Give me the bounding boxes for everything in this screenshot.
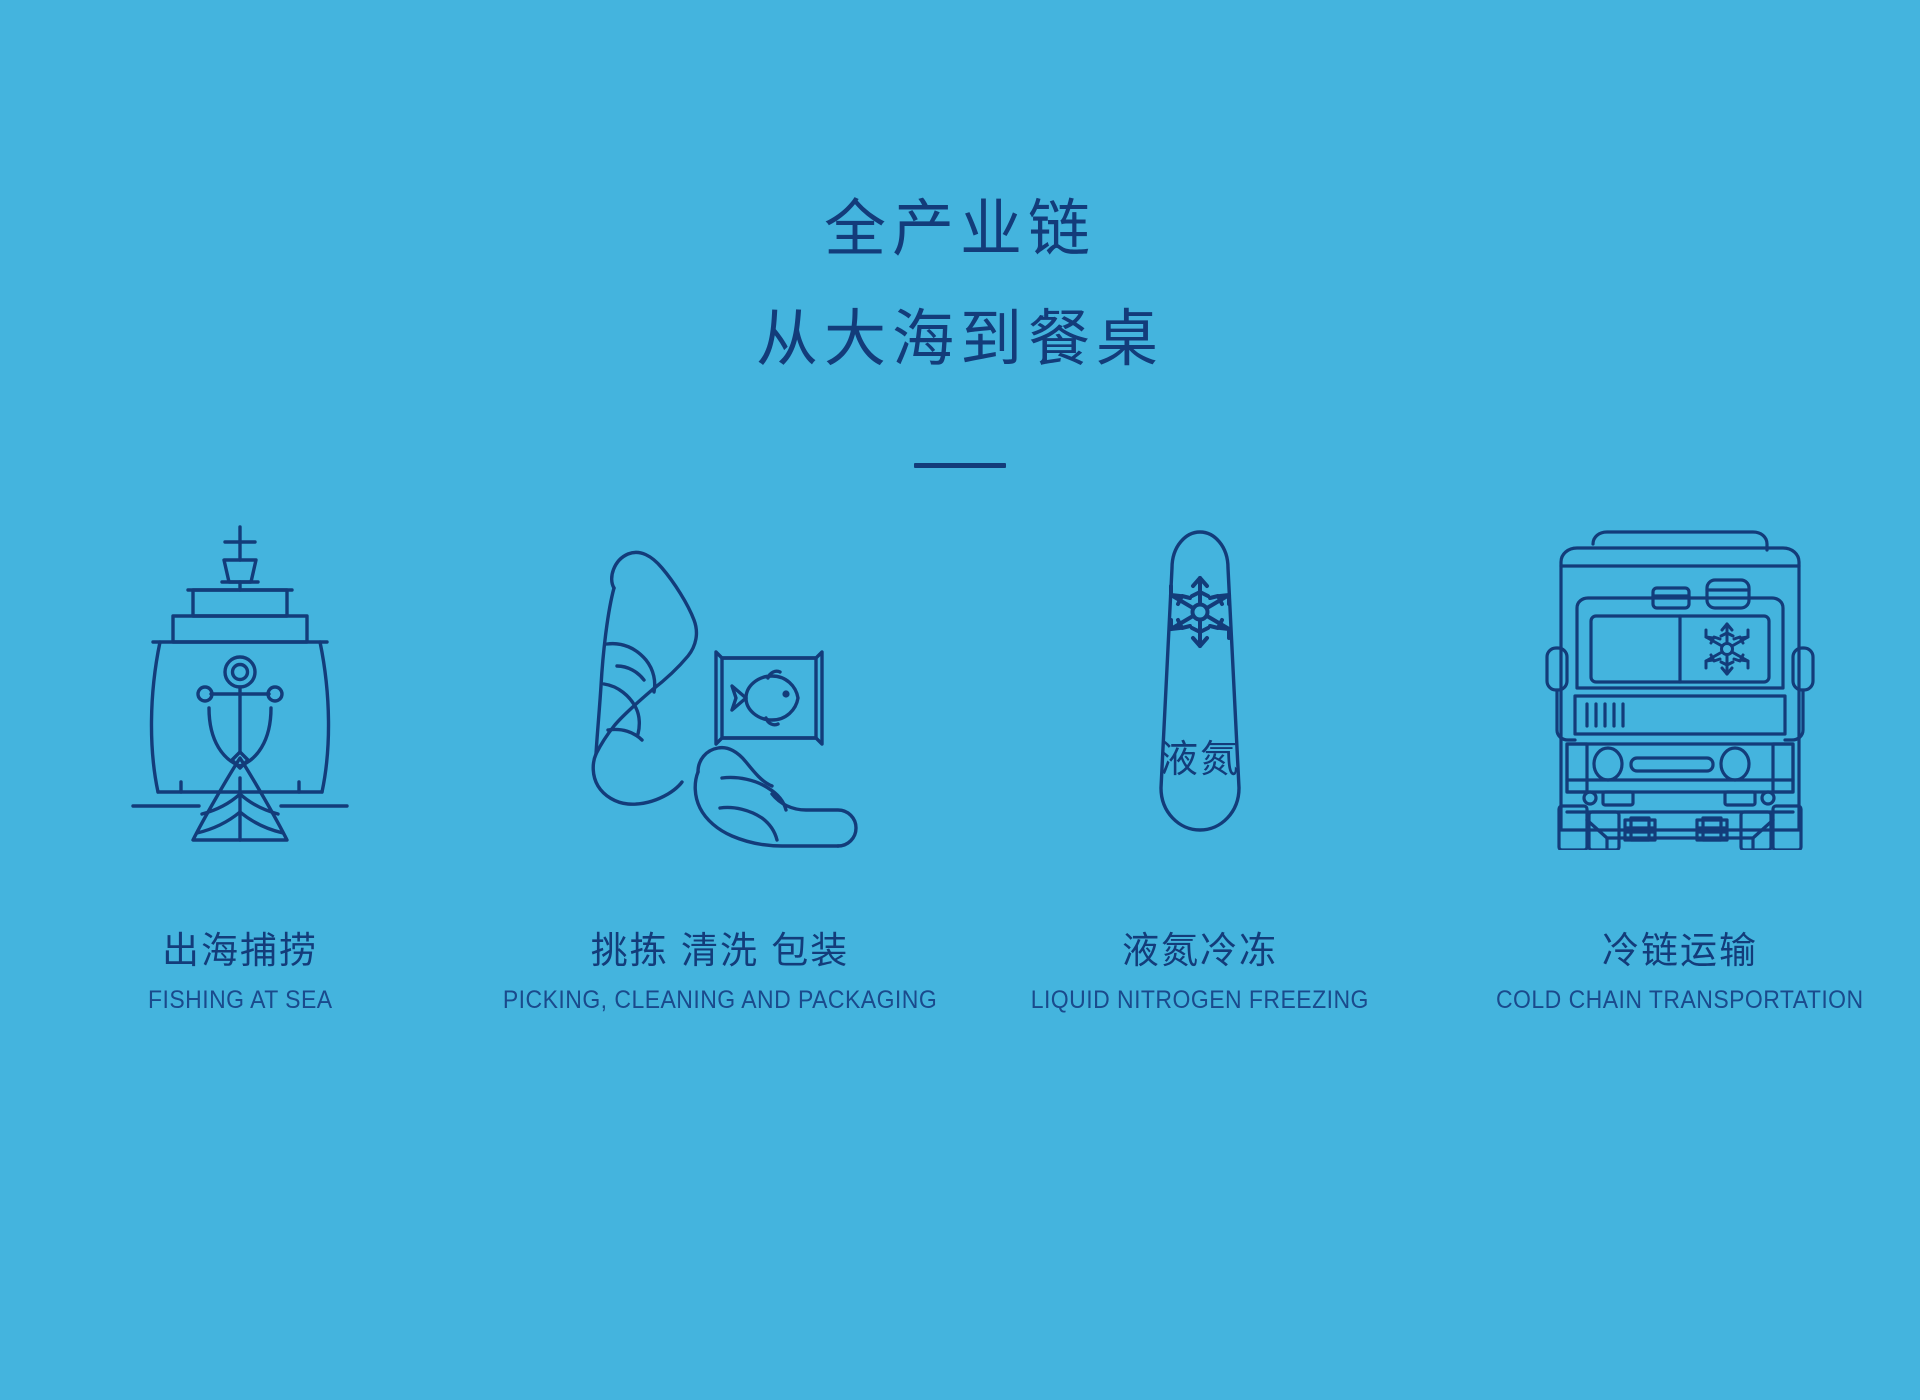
snowflake-icon xyxy=(1171,578,1229,646)
title-divider xyxy=(914,463,1006,468)
process-steps: 出海捕捞 FISHING AT SEA xyxy=(0,520,1920,1020)
step-label-group: 出海捕捞 FISHING AT SEA xyxy=(140,928,341,1020)
heading-line-1: 全产业链 xyxy=(0,175,1920,285)
step-title-cn: 出海捕捞 xyxy=(140,928,341,974)
step-title-en: COLD CHAIN TRANSPORTATION xyxy=(1496,980,1864,1020)
step-label-group: 冷链运输 COLD CHAIN TRANSPORTATION xyxy=(1480,928,1880,1020)
heading-line-2: 从大海到餐桌 xyxy=(0,285,1920,395)
poster-canvas: 全产业链 从大海到餐桌 xyxy=(0,0,1920,1400)
step-title-en: LIQUID NITROGEN FREEZING xyxy=(1031,980,1369,1020)
step-title-cn: 挑拣 清洗 包装 xyxy=(484,928,956,974)
step-picking-cleaning-packaging: 挑拣 清洗 包装 PICKING, CLEANING AND PACKAGING xyxy=(480,520,960,1020)
step-artwork xyxy=(125,520,355,850)
step-liquid-nitrogen-freezing: 液氮 液氮冷冻 LIQUID NITROGEN FREEZING xyxy=(960,520,1440,1020)
liquid-nitrogen-tank-icon: 液氮 xyxy=(1120,520,1280,850)
snowflake-icon xyxy=(1706,624,1748,674)
step-label-group: 挑拣 清洗 包装 PICKING, CLEANING AND PACKAGING xyxy=(484,928,956,1020)
fishing-boat-icon xyxy=(125,520,355,850)
step-title-cn: 冷链运输 xyxy=(1480,928,1880,974)
step-label-group: 液氮冷冻 LIQUID NITROGEN FREEZING xyxy=(1016,928,1384,1020)
tank-label: 液氮 xyxy=(1160,739,1240,781)
step-fishing-at-sea: 出海捕捞 FISHING AT SEA xyxy=(0,520,480,1020)
step-cold-chain-transportation: 冷链运输 COLD CHAIN TRANSPORTATION xyxy=(1440,520,1920,1020)
step-artwork xyxy=(1545,520,1815,850)
hands-fish-package-icon xyxy=(570,520,870,850)
step-artwork xyxy=(570,520,870,850)
step-artwork: 液氮 xyxy=(1120,520,1280,850)
refrigerated-truck-icon xyxy=(1545,520,1815,850)
step-title-cn: 液氮冷冻 xyxy=(1016,928,1384,974)
step-title-en: FISHING AT SEA xyxy=(148,980,333,1020)
step-title-en: PICKING, CLEANING AND PACKAGING xyxy=(503,980,937,1020)
page-title: 全产业链 从大海到餐桌 xyxy=(0,175,1920,395)
title-divider-wrap xyxy=(0,455,1920,473)
